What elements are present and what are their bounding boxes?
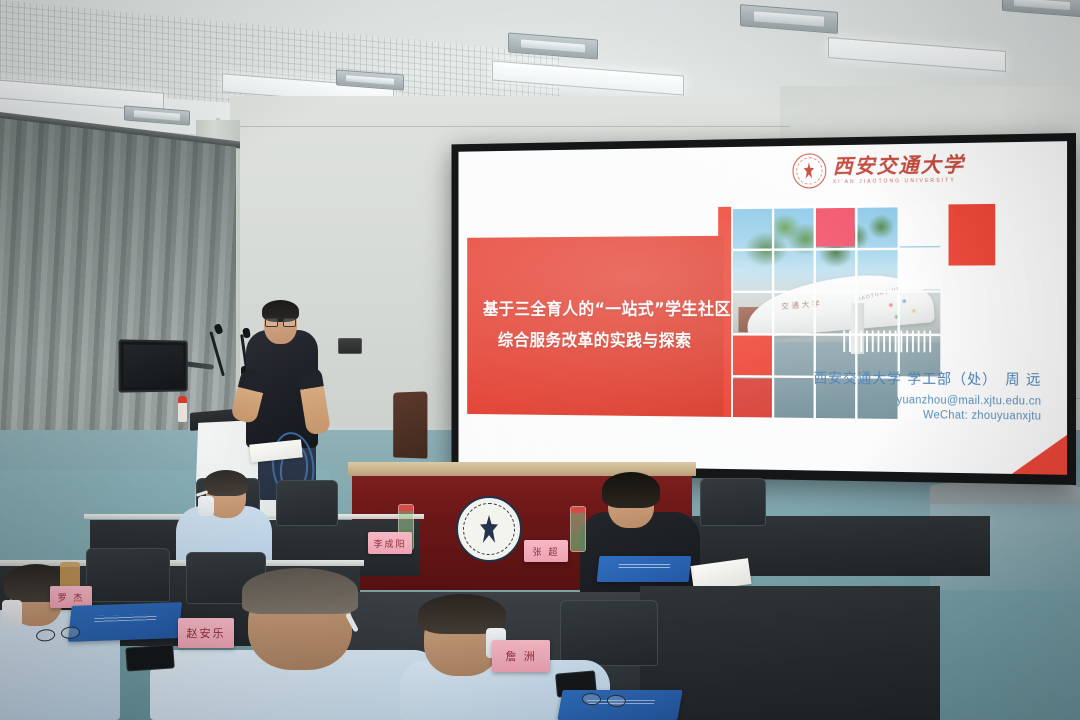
- face-mask: [198, 496, 214, 516]
- water-bottle: [178, 396, 187, 422]
- university-emblem: [456, 496, 522, 562]
- seat-back: [276, 480, 338, 526]
- desk-row-front-right: [640, 586, 940, 720]
- photo-fence: [843, 330, 935, 352]
- glass-tea-bottle: [570, 506, 586, 552]
- smartphone: [125, 644, 175, 671]
- logo-chinese-name: 西安交通大学: [833, 154, 965, 177]
- desk-edge: [0, 560, 364, 566]
- presenter-wechat: WeChat: zhouyuanxjtu: [814, 408, 1042, 422]
- eyeglasses: [582, 692, 627, 706]
- seat-back: [86, 548, 170, 602]
- face-mask: [2, 600, 22, 626]
- slide-presenter-info: 西安交通大学 学工部（处） 周 远 yuanzhou@mail.xjtu.edu…: [814, 367, 1042, 422]
- screen-surface: 西安交通大学 XI'AN JIAOTONG UNIVERSITY 基于三全育人的…: [458, 141, 1067, 475]
- slide-title-line-2: 综合服务改革的实践与探索: [483, 326, 707, 358]
- name-card: 李成阳: [368, 532, 412, 554]
- seat-back: [560, 600, 658, 666]
- slide-red-side-block: [949, 204, 996, 266]
- logo-english-name: XI'AN JIAOTONG UNIVERSITY: [833, 178, 965, 186]
- wall-seam: [230, 126, 790, 127]
- name-card: 张 超: [524, 540, 568, 562]
- conference-room-photo: 西安交通大学 XI'AN JIAOTONG UNIVERSITY 基于三全育人的…: [0, 0, 1080, 720]
- photo-flowerbed: [883, 295, 921, 325]
- presenter-affiliation: 西安交通大学 学工部（处） 周 远: [814, 367, 1042, 389]
- attendee-hair: [602, 472, 660, 508]
- name-card: 詹 洲: [492, 640, 550, 672]
- presenter-email: yuanzhou@mail.xjtu.edu.cn: [814, 394, 1042, 408]
- name-card: 赵安乐: [178, 618, 234, 648]
- wall-control-panel[interactable]: [338, 338, 362, 354]
- slide-title-line-1: 基于三全育人的“一站式”学生社区: [483, 294, 707, 326]
- attendee-hair: [204, 470, 248, 496]
- speaker-glasses-icon: [265, 318, 296, 325]
- presentation-slide: 西安交通大学 XI'AN JIAOTONG UNIVERSITY 基于三全育人的…: [458, 141, 1067, 475]
- photo-trees: [836, 207, 903, 276]
- side-chair: [393, 391, 427, 458]
- microphone-head: [242, 327, 251, 338]
- monitor-screen: [124, 345, 184, 388]
- university-seal-icon: [792, 153, 826, 189]
- slide-university-logo: 西安交通大学 XI'AN JIAOTONG UNIVERSITY: [792, 151, 965, 189]
- blue-conference-folder: [597, 556, 692, 582]
- projection-screen: 西安交通大学 XI'AN JIAOTONG UNIVERSITY 基于三全育人的…: [452, 133, 1076, 485]
- slide-title-block: 基于三全育人的“一站式”学生社区 综合服务改革的实践与探索: [467, 236, 724, 417]
- slide-corner-triangle: [1012, 434, 1067, 475]
- blue-conference-folder: [68, 602, 182, 642]
- attendee-hair: [242, 568, 358, 614]
- confidence-monitor: [119, 339, 188, 392]
- seat-back: [700, 478, 766, 526]
